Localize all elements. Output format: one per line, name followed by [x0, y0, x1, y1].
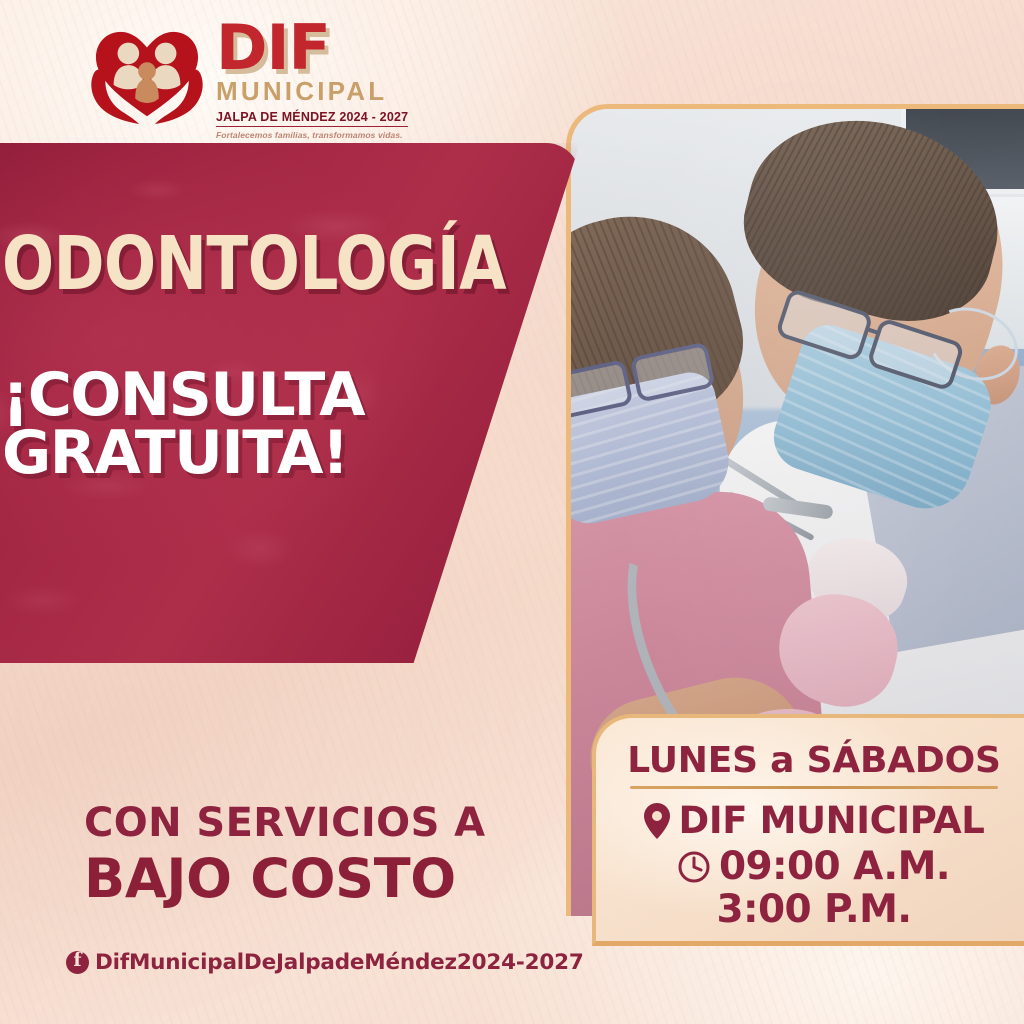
- logo-jurisdiction: JALPA DE MÉNDEZ 2024 - 2027: [216, 110, 408, 127]
- dif-heart-hands-logo-icon: [88, 22, 206, 128]
- callout-line-1: ¡CONSULTA: [2, 367, 580, 425]
- schedule-days: LUNES a SÁBADOS: [624, 740, 1004, 781]
- schedule-panel: LUNES a SÁBADOS DIF MUNICIPAL 09:00 A.M.…: [592, 714, 1024, 946]
- facebook-footer[interactable]: DifMunicipalDeJalpadeMéndez2024-2027: [66, 950, 584, 975]
- dif-logo: DIF MUNICIPAL JALPA DE MÉNDEZ 2024 - 202…: [88, 22, 408, 140]
- location-pin-icon: [644, 803, 670, 839]
- callout-line-2: GRATUITA!: [2, 425, 580, 483]
- logo-wordmark: DIF MUNICIPAL JALPA DE MÉNDEZ 2024 - 202…: [216, 22, 408, 140]
- schedule-divider: [630, 786, 998, 789]
- schedule-open-row: 09:00 A.M.: [624, 844, 1004, 889]
- logo-acronym: DIF: [216, 24, 408, 72]
- facebook-handle[interactable]: DifMunicipalDeJalpadeMéndez2024-2027: [95, 950, 584, 975]
- facebook-icon[interactable]: [66, 951, 89, 974]
- low-cost-line-2: BAJO COSTO: [84, 847, 554, 910]
- logo-tagline: Fortalecemos familias, transformamos vid…: [216, 130, 408, 140]
- low-cost-message: CON SERVICIOS A BAJO COSTO: [84, 800, 554, 910]
- schedule-location: DIF MUNICIPAL: [679, 799, 985, 842]
- schedule-close-time: 3:00 P.M.: [716, 887, 911, 932]
- service-title: ODONTOLOGÍA: [2, 221, 534, 307]
- schedule-open-time: 09:00 A.M.: [719, 844, 950, 889]
- clock-icon: [678, 851, 710, 883]
- low-cost-line-1: CON SERVICIOS A: [84, 800, 554, 846]
- schedule-location-row: DIF MUNICIPAL: [624, 799, 1004, 842]
- banner-content: ODONTOLOGÍA ¡CONSULTA GRATUITA!: [0, 143, 580, 663]
- schedule-close-row: 3:00 P.M.: [624, 887, 1004, 932]
- free-consult-callout: ¡CONSULTA GRATUITA!: [2, 367, 580, 482]
- headline-banner: ODONTOLOGÍA ¡CONSULTA GRATUITA!: [0, 143, 580, 663]
- poster-canvas: DIF MUNICIPAL JALPA DE MÉNDEZ 2024 - 202…: [0, 0, 1024, 1024]
